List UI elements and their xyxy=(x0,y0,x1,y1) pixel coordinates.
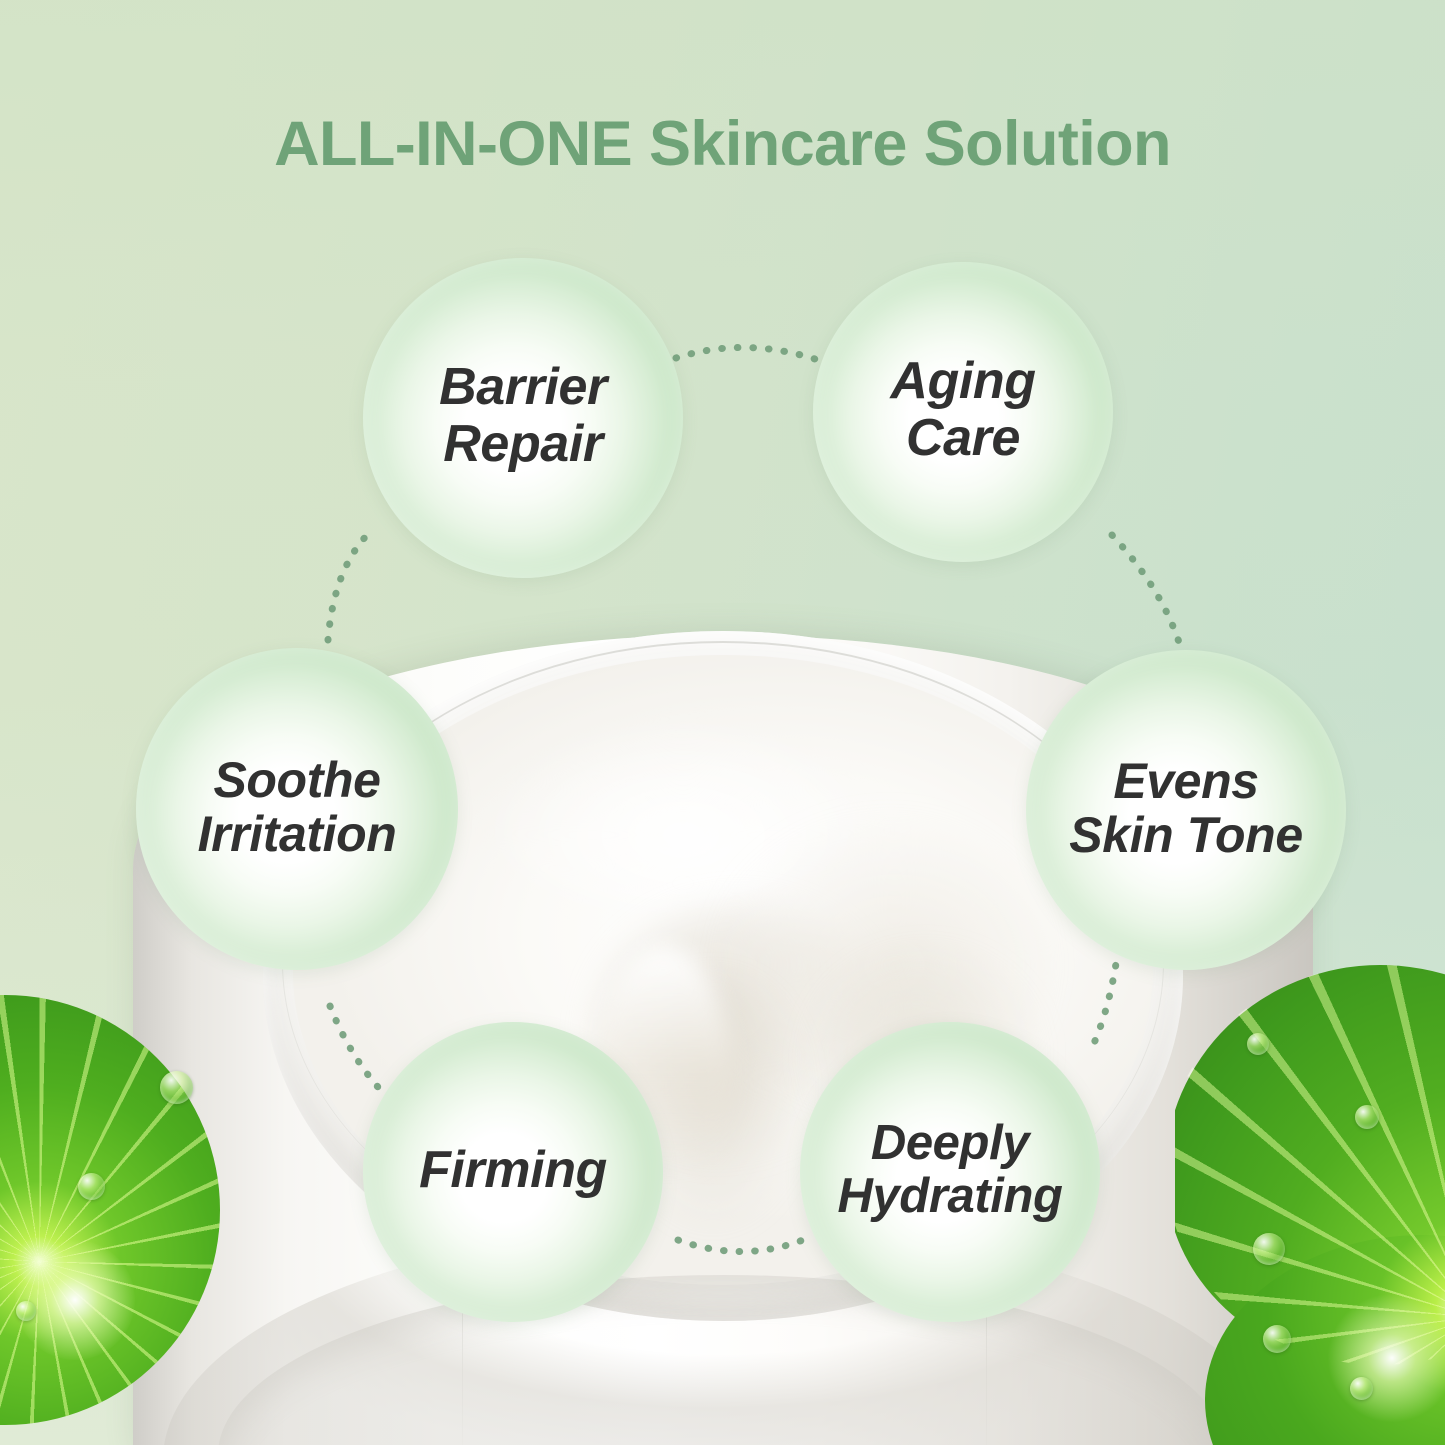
leaf-center-glow xyxy=(1327,1293,1445,1423)
benefit-bubble-evens-skin-tone[interactable]: Evens Skin Tone xyxy=(1026,650,1346,970)
water-droplet xyxy=(1247,1033,1269,1055)
benefit-label-evens-skin-tone: Evens Skin Tone xyxy=(1069,754,1302,863)
benefit-bubble-soothe-irritation[interactable]: Soothe Irritation xyxy=(136,648,458,970)
water-droplet xyxy=(160,1071,193,1104)
benefit-bubble-firming[interactable]: Firming xyxy=(363,1022,663,1322)
benefit-bubble-aging-care[interactable]: Aging Care xyxy=(813,262,1113,562)
water-droplet xyxy=(16,1301,36,1321)
benefit-label-deeply-hydrating: Deeply Hydrating xyxy=(837,1117,1062,1224)
page-title: ALL-IN-ONE Skincare Solution xyxy=(0,108,1445,180)
benefit-bubble-barrier-repair[interactable]: Barrier Repair xyxy=(363,258,683,578)
benefit-label-firming: Firming xyxy=(419,1142,607,1199)
water-droplet xyxy=(1253,1233,1285,1265)
leaf-veins xyxy=(0,995,220,1425)
water-droplet xyxy=(78,1173,105,1200)
leaf-center-glow xyxy=(15,1240,135,1360)
water-droplet xyxy=(1350,1377,1373,1400)
benefit-label-soothe-irritation: Soothe Irritation xyxy=(198,753,397,862)
benefit-label-aging-care: Aging Care xyxy=(890,353,1035,466)
benefit-bubble-deeply-hydrating[interactable]: Deeply Hydrating xyxy=(800,1022,1100,1322)
centella-leaf-left xyxy=(0,985,250,1445)
infographic-canvas: Barrier Repair Aging Care Evens Skin Ton… xyxy=(0,0,1445,1445)
centella-leaf-right xyxy=(1175,945,1445,1445)
water-droplet xyxy=(1355,1105,1379,1129)
benefit-label-barrier-repair: Barrier Repair xyxy=(439,359,607,472)
water-droplet xyxy=(1263,1325,1291,1353)
